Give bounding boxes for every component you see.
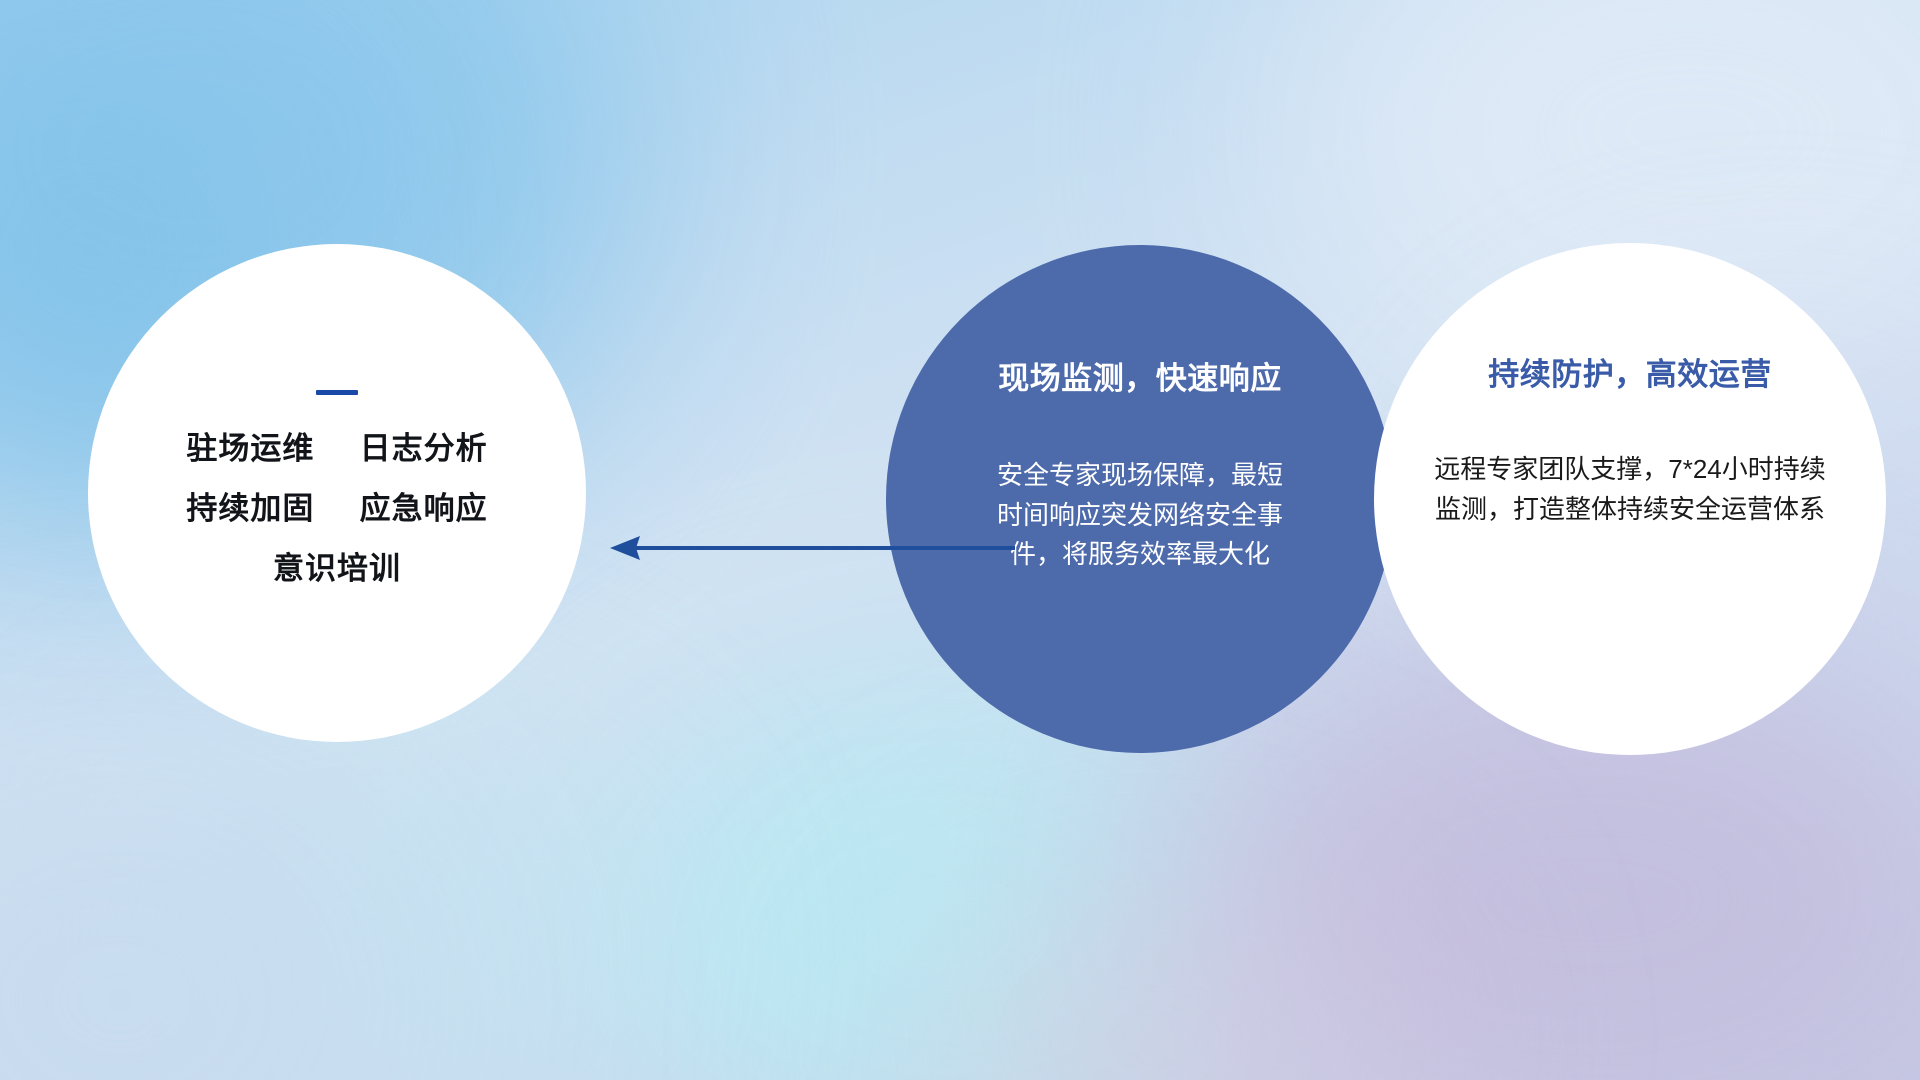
slide-canvas: 驻场运维 日志分析 持续加固 应急响应 意识培训 现场监测，快速响应 安全专家现…	[0, 0, 1920, 1080]
service-circle-right-title: 持续防护，高效运营	[1488, 349, 1772, 394]
background-blob-cyan-glow	[600, 700, 1300, 1080]
capability-tag-3a: 意识培训	[273, 551, 401, 586]
capability-tag-2b: 应急响应	[360, 491, 488, 526]
background-blob-bottom-left	[0, 720, 440, 1080]
background-blob-cyan-glow-left	[120, 760, 640, 1080]
background-blob-lavender-pink	[900, 880, 1420, 1080]
service-circle-right[interactable]: 持续防护，高效运营 远程专家团队支撑，7*24小时持续监测，打造整体持续安全运营…	[1374, 243, 1886, 755]
capability-row-2: 持续加固 应急响应	[186, 493, 487, 524]
accent-dash-icon	[316, 390, 358, 395]
capability-list: 驻场运维 日志分析 持续加固 应急响应 意识培训	[186, 433, 487, 584]
service-circle-middle-content: 现场监测，快速响应 安全专家现场保障，最短时间响应突发网络安全事件，将服务效率最…	[886, 245, 1394, 753]
service-circle-middle[interactable]: 现场监测，快速响应 安全专家现场保障，最短时间响应突发网络安全事件，将服务效率最…	[886, 245, 1394, 753]
service-circle-right-body: 远程专家团队支撑，7*24小时持续监测，打造整体持续安全运营体系	[1430, 450, 1830, 529]
capability-circle-left[interactable]: 驻场运维 日志分析 持续加固 应急响应 意识培训	[88, 244, 586, 742]
capability-row-1: 驻场运维 日志分析	[186, 433, 487, 464]
service-circle-middle-body: 安全专家现场保障，最短时间响应突发网络安全事件，将服务效率最大化	[995, 456, 1285, 575]
capability-tag-2a: 持续加固	[186, 491, 314, 526]
capability-tag-1b: 日志分析	[360, 431, 488, 466]
service-circle-middle-title: 现场监测，快速响应	[998, 353, 1282, 398]
service-circle-right-content: 持续防护，高效运营 远程专家团队支撑，7*24小时持续监测，打造整体持续安全运营…	[1374, 243, 1886, 755]
capability-tag-1a: 驻场运维	[186, 431, 314, 466]
connector-arrow-icon	[600, 520, 1020, 580]
capability-row-3: 意识培训	[186, 553, 487, 584]
